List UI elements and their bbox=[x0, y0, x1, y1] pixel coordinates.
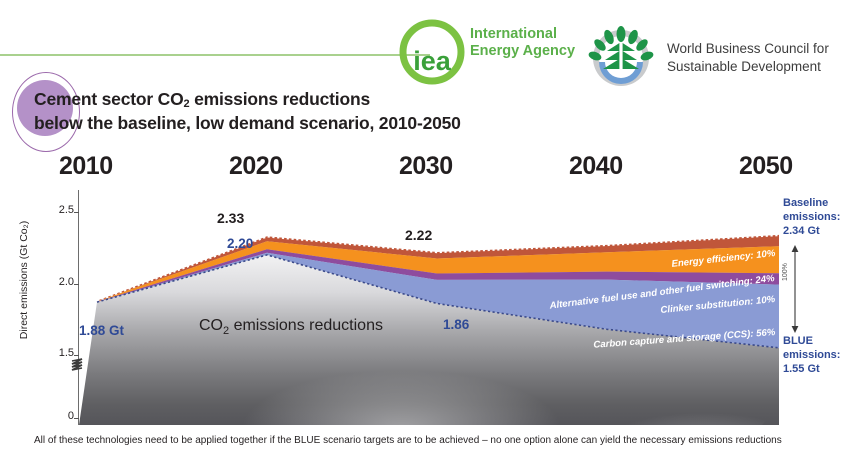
infographic-root: iea International Energy Agency bbox=[0, 0, 849, 451]
value-label-1-86: 1.86 bbox=[443, 317, 469, 332]
baseline-emissions-annotation: Baseline emissions: 2.34 Gt bbox=[783, 197, 849, 238]
iea-wordmark-line1: International bbox=[470, 26, 580, 43]
x-axis-year-2030: 2030 bbox=[399, 152, 453, 181]
x-axis-year-labels: 20102020203020402050 bbox=[0, 152, 849, 184]
blue-annotation-value: 1.55 Gt bbox=[783, 363, 849, 377]
wbcsd-wordmark-line1: World Business Council for bbox=[667, 40, 847, 58]
y-axis-tick-label: 0 bbox=[44, 410, 74, 422]
iea-wordmark-line2: Energy Agency bbox=[470, 43, 580, 60]
x-axis-year-2040: 2040 bbox=[569, 152, 623, 181]
blue-annotation-label2: emissions: bbox=[783, 349, 849, 363]
x-axis-year-2010: 2010 bbox=[59, 152, 113, 181]
x-axis-year-2050: 2050 bbox=[739, 152, 793, 181]
blue-annotation-label1: BLUE bbox=[783, 335, 849, 349]
y-axis-tick-label: 2.0 bbox=[44, 276, 74, 288]
y-axis-tick-label: 2.5 bbox=[44, 204, 74, 216]
svg-text:iea: iea bbox=[413, 46, 452, 76]
wbcsd-wordmark-line2: Sustainable Development bbox=[667, 58, 847, 76]
value-label-1-88-gt: 1.88 Gt bbox=[79, 323, 124, 338]
y-axis-title: Direct emissions (Gt Co₂) bbox=[18, 200, 30, 360]
iea-wordmark: International Energy Agency bbox=[470, 26, 580, 60]
page-title-line1: Cement sector CO2 emissions reductions bbox=[34, 88, 464, 112]
iea-logo: iea bbox=[396, 16, 468, 88]
baseline-annotation-label1: Baseline bbox=[783, 197, 849, 211]
y-axis-tick-label: 1.5 bbox=[44, 347, 74, 359]
page-title: Cement sector CO2 emissions reductions b… bbox=[34, 88, 464, 135]
page-title-line1-b: emissions reductions bbox=[189, 89, 370, 109]
footer-note: All of these technologies need to be app… bbox=[34, 435, 834, 447]
value-label-2-20: 2.20 bbox=[227, 236, 253, 251]
x-axis-year-2020: 2020 bbox=[229, 152, 283, 181]
range-percent-label: 100% bbox=[782, 263, 789, 281]
range-arrow bbox=[794, 243, 796, 331]
chart-plot: 1.88 Gt2.332.202.221.86CO2 emissions red… bbox=[79, 190, 779, 425]
blue-emissions-annotation: BLUE emissions: 1.55 Gt bbox=[783, 335, 849, 376]
value-label-2-22: 2.22 bbox=[405, 227, 432, 243]
co2-reductions-caption: CO2 emissions reductions bbox=[199, 317, 383, 337]
page-title-line2: below the baseline, low demand scenario,… bbox=[34, 112, 464, 136]
page-title-line1-a: Cement sector CO bbox=[34, 89, 183, 109]
wbcsd-logo bbox=[583, 18, 659, 90]
wbcsd-wordmark: World Business Council for Sustainable D… bbox=[667, 40, 847, 76]
value-label-2-33: 2.33 bbox=[217, 210, 244, 226]
chart-area: Direct emissions (Gt Co₂) 2.52.01.50 bbox=[0, 190, 849, 425]
baseline-annotation-label2: emissions: bbox=[783, 211, 849, 225]
baseline-annotation-value: 2.34 Gt bbox=[783, 225, 849, 239]
header-divider-rule bbox=[0, 54, 430, 56]
